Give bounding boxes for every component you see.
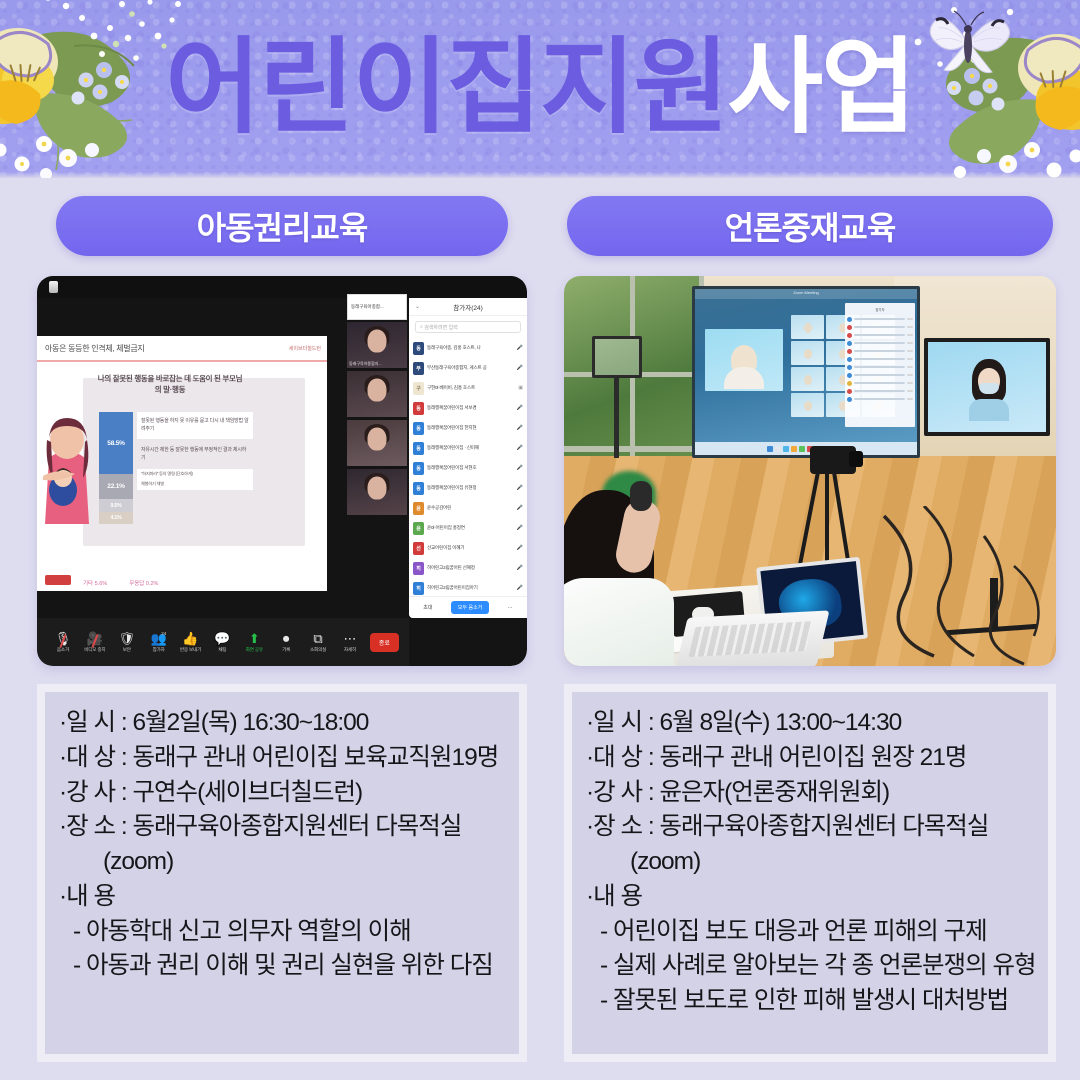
window-with-trees — [564, 276, 704, 486]
list-item[interactable]: 동 동래행복꿈어린이집 한지현 🎤 — [413, 418, 523, 438]
avatar: 히 — [413, 562, 424, 575]
microphone-muted-icon: 🎤 — [517, 505, 523, 511]
detail-content-item: - 실제 사례로 알아보는 각 종 언론분쟁의 유형 — [586, 949, 1042, 984]
mother-child-illustration-icon — [41, 416, 95, 524]
participant-name: 동래행복꿈어린이집 유현정 — [427, 485, 514, 491]
toolbar-label: 비디오 중지 — [84, 647, 105, 653]
zoom-participants-panel: ⌄ 참가자(24) ⌕ 검색하려면 입력 동 동래구육아종, 김홍 호스트, 나 — [409, 298, 527, 618]
microphone-muted-icon: 🎤 — [517, 565, 523, 571]
photo-child-rights: 아동은 동등한 인격체, 체벌금지 세이브더칠드런 나의 잘못된 행동을 바로잡… — [37, 276, 527, 666]
zoom-shared-screen: 아동은 동등한 인격체, 체벌금지 세이브더칠드런 나의 잘못된 행동을 바로잡… — [37, 336, 327, 591]
screen-participants-title: 참가자 — [847, 307, 913, 312]
list-item — [847, 323, 913, 331]
avatar: 선 — [413, 542, 424, 555]
classroom-photo: Zoom Meeting — [564, 276, 1056, 666]
microphone-muted-icon: 🎙 — [55, 632, 72, 645]
screen-window-titlebar: Zoom Meeting — [695, 289, 917, 299]
detail-content-item: - 아동과 권리 이해 및 권리 실현을 위한 다짐 — [59, 949, 513, 984]
list-item[interactable]: 히 히어린고2림꿈어린 선혜정 🎤 — [413, 558, 523, 578]
light-panel — [592, 336, 642, 378]
avatar — [368, 428, 387, 451]
list-item — [847, 379, 913, 387]
chart-footnotes: 기타 5.6% 무응답 0.2% — [83, 579, 313, 587]
zoom-meeting-screenshot: 아동은 동등한 인격체, 체벌금지 세이브더칠드런 나의 잘못된 행동을 바로잡… — [37, 276, 527, 666]
toolbar-label: 자세히 — [344, 647, 356, 653]
list-item[interactable]: 동 동래행복꿈어린이집 서보경 🎤 — [413, 398, 523, 418]
participant-name: 동래행복꿈어린이집 서현호 — [427, 465, 514, 471]
list-item[interactable]: 선 선교어린이집 이혜기 🎤 — [413, 538, 523, 558]
avatar: 구 — [413, 382, 424, 395]
avatar: 윤 — [413, 522, 424, 535]
avatar — [368, 330, 387, 353]
microphone-muted-icon: 🎤 — [517, 345, 523, 351]
gallery-tile — [791, 393, 824, 417]
avatar: 동 — [413, 342, 424, 355]
participant-name: 히어린고2림꿈어린이집아기 — [427, 585, 514, 591]
video-icon: ▣ — [518, 385, 523, 391]
list-item[interactable]: 히 히어린고2림꿈어린이집아기 🎤 — [413, 578, 523, 598]
participant-name: 선교어린이집 이혜기 — [427, 545, 514, 551]
slide-logo: 세이브더칠드런 — [289, 345, 321, 352]
toolbar-label: 화면 공유 — [246, 647, 263, 653]
zoom-window-indicator-icon — [49, 281, 58, 293]
list-item — [847, 371, 913, 379]
section-heading-press-arbitration[interactable]: 언론중재교육 — [567, 196, 1053, 256]
details-panel-press-arbitration: ·일 시 : 6월 8일(수) 13:00~14:30 ·대 상 : 동래구 관… — [564, 684, 1056, 1062]
detail-date: ·일 시 : 6월2일(목) 16:30~18:00 — [59, 706, 513, 741]
list-item[interactable]: 동 동래행복꿈어린이집 서현호 🎤 — [413, 458, 523, 478]
sections-container: 아동권리교육 아동은 동등한 인격체, 체벌금지 세이브더칠드런 — [0, 178, 1080, 1080]
toolbar-breakout-button[interactable]: ⧉ 소회의실 — [302, 632, 334, 653]
speaker-on-monitor — [969, 359, 1009, 419]
mute-all-button[interactable]: 모두 음소거 — [451, 601, 489, 614]
toolbar-reactions-button[interactable]: 👍 반응 보내기 — [175, 632, 207, 653]
toolbar-mute-button[interactable]: 🎙 음소거 — [47, 632, 79, 653]
zoom-thumbnail[interactable] — [347, 469, 407, 515]
end-meeting-button[interactable]: 종료 — [370, 633, 399, 652]
participants-list: 동 동래구육아종, 김홍 호스트, 나 🎤 부 부산동래구육아종합지, 게스트 … — [409, 338, 527, 608]
light-stand — [614, 378, 619, 458]
list-item[interactable]: 구 구현0l·베이비, 김홍 호스트 ▣ — [413, 378, 523, 398]
chart-category-labels: 잘못된 행동을 하지 못 이유를 묻고 다시 내 책임방법 알려주기 자유시간 … — [137, 412, 253, 490]
avatar: 히 — [413, 582, 424, 595]
microphone-muted-icon: 🎤 — [517, 465, 523, 471]
microphone-muted-icon: 🎤 — [517, 585, 523, 591]
participants-search-placeholder: 검색하려면 입력 — [424, 324, 458, 331]
body-area: 아동권리교육 아동은 동등한 인격체, 체벌금지 세이브더칠드런 — [0, 178, 1080, 1080]
search-icon: ⌕ — [420, 324, 423, 330]
list-item — [847, 339, 913, 347]
participants-panel-footer: 초대 모두 음소거 ⋯ — [409, 596, 527, 618]
screen-active-speaker — [705, 329, 783, 391]
avatar — [969, 399, 1009, 421]
presenter-person — [564, 471, 708, 666]
avatar: 윤 — [413, 502, 424, 515]
avatar: 동 — [413, 462, 424, 475]
gallery-tile — [791, 341, 824, 365]
detail-location: ·장 소 : 동래구육아종합지원센터 다목적실 — [586, 810, 1042, 845]
detail-audience: ·대 상 : 동래구 관내 어린이집 보육교직원19명 — [59, 741, 513, 776]
microphone-muted-icon: 🎤 — [517, 425, 523, 431]
microphone-muted-icon: 🎤 — [517, 485, 523, 491]
chevron-down-icon[interactable]: ⌄ — [415, 303, 420, 310]
avatar: 동 — [413, 482, 424, 495]
list-item — [847, 331, 913, 339]
list-item[interactable]: 윤 윤수공감어린 🎤 — [413, 498, 523, 518]
participant-name: 동래구육아종, 김홍 호스트, 나 — [427, 345, 514, 351]
list-item — [847, 315, 913, 323]
detail-content-item: - 어린이집 보도 대응과 언론 피해의 구제 — [586, 915, 1042, 950]
toolbar-label: 음소거 — [57, 647, 69, 653]
invite-button[interactable]: 초대 — [423, 604, 432, 611]
zoom-thumbnail-name: 동래구육아종합지... — [349, 361, 382, 367]
list-item — [847, 395, 913, 403]
slide-title: 아동은 동등한 인격체, 체벌금지 — [37, 343, 144, 354]
slide-question: 나의 잘못된 행동을 바로잡는 데 도움이 된 부모님의 말·행동 — [95, 374, 245, 396]
toolbar-label: 보안 — [123, 647, 131, 653]
zoom-window-topbar — [37, 276, 527, 298]
list-item[interactable]: 동 동래행복꿈어린이집 유현정 🎤 — [413, 478, 523, 498]
page-title: 어린이집지원사업 — [0, 36, 1080, 140]
list-item — [847, 355, 913, 363]
detail-date: ·일 시 : 6월 8일(수) 13:00~14:30 — [586, 706, 1042, 741]
zoom-video-thumbnails: 동래구육아종합지... — [347, 322, 407, 518]
microphone-muted-icon: 🎤 — [517, 525, 523, 531]
details-panel-child-rights: ·일 시 : 6월2일(목) 16:30~18:00 ·대 상 : 동래구 관내… — [37, 684, 527, 1062]
projection-screen: Zoom Meeting — [692, 286, 920, 458]
more-options-icon[interactable]: ⋯ — [508, 605, 513, 611]
participant-name: 동래행복꿈어린이집 · 신미혜 — [427, 445, 514, 451]
participants-search-input[interactable]: ⌕ 검색하려면 입력 — [415, 321, 521, 333]
participant-name: 동래행복꿈어린이집 서보경 — [427, 405, 514, 411]
avatar — [368, 379, 387, 402]
toolbar-record-button[interactable]: ⏺ 기록 — [270, 632, 302, 653]
section-heading-label: 언론중재교육 — [725, 203, 896, 249]
avatar — [368, 477, 387, 500]
toolbar-chat-button[interactable]: 💬 채팅 — [206, 632, 238, 653]
detail-location: ·장 소 : 동래구육아종합지원센터 다목적실 — [59, 810, 513, 845]
list-item — [847, 363, 913, 371]
participants-panel-header: ⌄ 참가자(24) — [409, 298, 527, 316]
detail-location-note: (zoom) — [59, 845, 513, 880]
list-item — [847, 347, 913, 355]
participant-name: 구현0l·베이비, 김홍 호스트 — [427, 385, 515, 391]
person-shirt — [564, 578, 674, 666]
secondary-monitor — [924, 338, 1050, 436]
list-item — [847, 387, 913, 395]
camera-icon — [810, 446, 856, 474]
stacked-bar-chart: 58.5% 22.1% 9.5% 4.1% — [99, 412, 133, 524]
toolbar-label: 채팅 — [218, 647, 226, 653]
zoom-self-view[interactable]: 동래구육아종합... — [347, 294, 407, 320]
page-title-primary: 어린이집지원 — [165, 30, 727, 146]
microphone-muted-icon: 🎤 — [517, 405, 523, 411]
poster-root: 어린이집지원사업 — [0, 0, 1080, 1080]
bar-segment: 4.1% — [99, 512, 133, 524]
slide-header: 아동은 동등한 인격체, 체벌금지 세이브더칠드런 — [37, 336, 327, 362]
gallery-tile — [791, 367, 824, 391]
slide-brand-logo-icon — [45, 575, 71, 585]
list-item[interactable]: 동 동래구육아종, 김홍 호스트, 나 🎤 — [413, 338, 523, 358]
toolbar-label: 소회의실 — [310, 647, 326, 653]
detail-content-item: - 아동학대 신고 의무자 역할의 이해 — [59, 915, 513, 950]
photo-press-arbitration: Zoom Meeting — [564, 276, 1056, 666]
toolbar-share-screen-button[interactable]: ⬆ 화면 공유 — [238, 632, 270, 653]
detail-contents-heading: ·내 용 — [586, 880, 1042, 915]
participants-panel-title: 참가자(24) — [453, 302, 483, 312]
record-icon: ⏺ — [283, 632, 290, 645]
detail-contents-heading: ·내 용 — [59, 880, 513, 915]
microphone-muted-icon: 🎤 — [517, 445, 523, 451]
thumbs-up-icon: 👍 — [182, 632, 198, 645]
gallery-tile — [791, 315, 824, 339]
detail-location-note: (zoom) — [586, 845, 1042, 880]
more-icon: ⋯ — [343, 632, 356, 645]
bar-segment: 58.5% — [99, 412, 133, 474]
zoom-toolbar: 🎙 음소거 🎥 비디오 중지 🛡 보안 — [37, 618, 409, 666]
participant-name: 부산동래구육아종합지, 게스트 공 — [427, 365, 514, 371]
toolbar-video-button[interactable]: 🎥 비디오 중지 — [79, 632, 111, 653]
avatar: 동 — [413, 422, 424, 435]
share-screen-icon: ⬆ — [249, 632, 260, 645]
avatar: 부 — [413, 362, 424, 375]
breakout-rooms-icon: ⧉ — [313, 632, 322, 645]
section-heading-child-rights[interactable]: 아동권리교육 — [56, 196, 508, 256]
floor-cables — [864, 506, 1056, 666]
shield-icon: 🛡 — [118, 632, 135, 645]
list-item[interactable]: 동 동래행복꿈어린이집 · 신미혜 🎤 — [413, 438, 523, 458]
face-mask-icon — [979, 383, 999, 394]
toolbar-participants-button[interactable]: 24 👥 참가자 — [143, 632, 175, 653]
zoom-thumbnail[interactable] — [347, 420, 407, 466]
participant-name: 동래행복꿈어린이집 한지현 — [427, 425, 514, 431]
detail-instructor: ·강 사 : 구연수(세이브더칠드런) — [59, 776, 513, 811]
video-muted-icon: 🎥 — [87, 632, 103, 645]
zoom-self-view-name: 동래구육아종합... — [351, 304, 384, 310]
section-child-rights: 아동권리교육 아동은 동등한 인격체, 체벌금지 세이브더칠드런 — [24, 178, 540, 1062]
avatar — [724, 367, 764, 389]
avatar: 동 — [413, 402, 424, 415]
section-press-arbitration: 언론중재교육 — [552, 178, 1068, 1062]
list-item[interactable]: 부 부산동래구육아종합지, 게스트 공 🎤 — [413, 358, 523, 378]
chart-label: "하지마라" 등의 명령 (단호하게) — [137, 469, 253, 479]
detail-audience: ·대 상 : 동래구 관내 어린이집 원장 21명 — [586, 741, 1042, 776]
chart-footnote: 무응답 0.2% — [129, 579, 158, 587]
bar-segment: 9.5% — [99, 499, 133, 512]
bar-segment: 22.1% — [99, 474, 133, 499]
slide-body: 나의 잘못된 행동을 바로잡는 데 도움이 된 부모님의 말·행동 — [37, 364, 327, 591]
zoom-thumbnail[interactable]: 동래구육아종합지... — [347, 322, 407, 368]
chart-label: 잘못된 행동을 하지 못 이유를 묻고 다시 내 책임방법 알려주기 — [137, 412, 253, 439]
zoom-thumbnail[interactable] — [347, 371, 407, 417]
toolbar-label: 반응 보내기 — [180, 647, 201, 653]
detail-content-item: - 잘못된 보도로 인한 피해 발생시 대처방법 — [586, 984, 1042, 1019]
chart-label: 체벌하기 체벌 — [137, 479, 253, 489]
camera-lens-icon — [849, 451, 863, 467]
participants-count-badge: 24 — [161, 631, 166, 636]
toolbar-label: 참가자 — [153, 647, 165, 653]
participant-name: 윤수공감어린 — [427, 505, 514, 511]
microphone-muted-icon: 🎤 — [517, 545, 523, 551]
page-title-secondary: 사업 — [727, 30, 914, 146]
screen-window-title: Zoom Meeting — [793, 290, 819, 295]
participant-name: 히어린고2림꿈어린 선혜정 — [427, 565, 514, 571]
microphone-muted-icon: 🎤 — [517, 365, 523, 371]
toolbar-label: 기록 — [282, 647, 290, 653]
screen-participants-panel: 참가자 — [845, 303, 915, 427]
section-heading-label: 아동권리교육 — [197, 203, 368, 249]
toolbar-security-button[interactable]: 🛡 보안 — [111, 632, 143, 653]
butterfly-icon — [922, 8, 1018, 78]
participant-name: 윤0l·어린이집 홍정연 — [427, 525, 514, 531]
chat-icon: 💬 — [214, 632, 230, 645]
microphone-icon — [630, 481, 652, 511]
chart-footnote: 기타 5.6% — [83, 579, 107, 587]
chart-label: 자유시간 제한 등 잘못한 행동에 부정적인 결과 제시하기 — [137, 443, 253, 466]
avatar: 동 — [413, 442, 424, 455]
toolbar-more-button[interactable]: ⋯ 자세히 — [334, 632, 366, 653]
detail-instructor: ·강 사 : 윤은자(언론중재위원회) — [586, 776, 1042, 811]
list-item[interactable]: 윤 윤0l·어린이집 홍정연 🎤 — [413, 518, 523, 538]
